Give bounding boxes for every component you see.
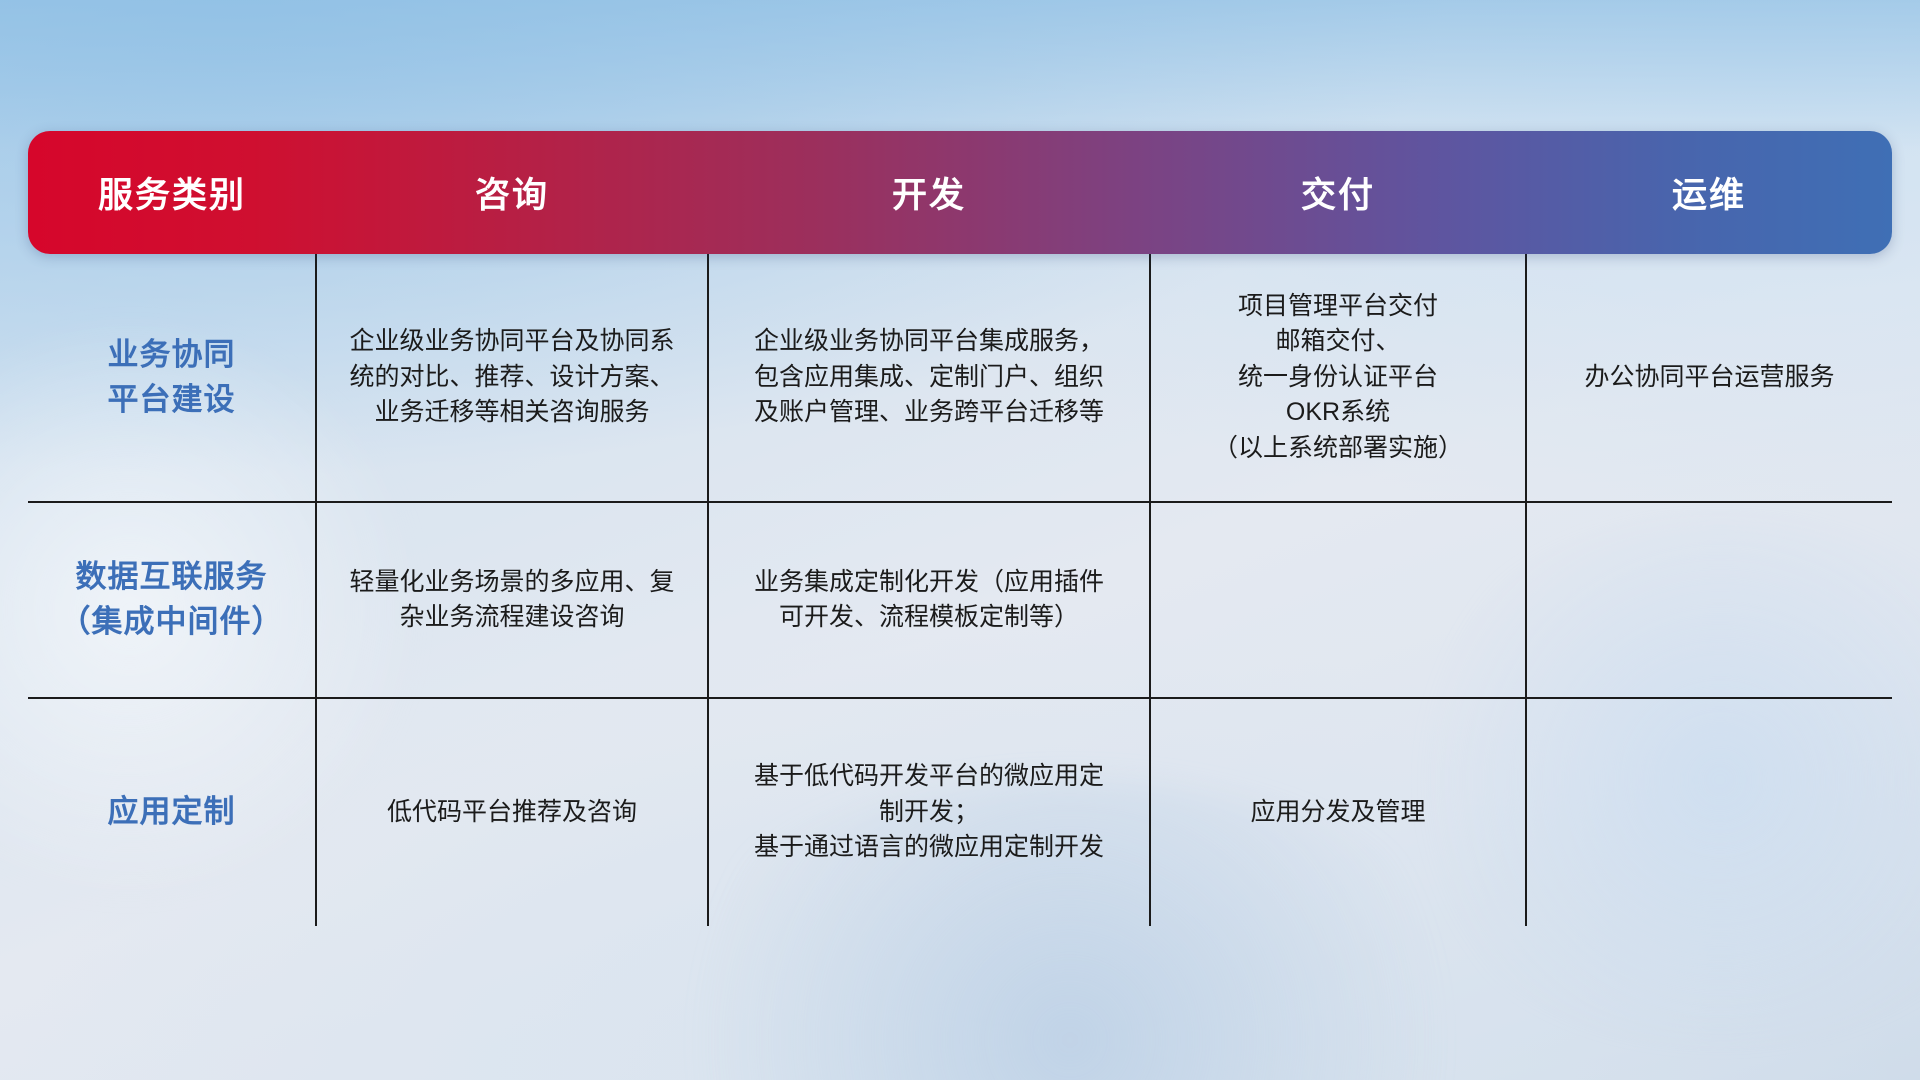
column-header-delivery[interactable]: 交付 (1150, 131, 1526, 254)
table-header: 服务类别 咨询 开发 交付 运维 (28, 131, 1892, 254)
row-label-business-collaboration: 业务协同 平台建设 (28, 254, 316, 502)
table-row: 应用定制 低代码平台推荐及咨询 基于低代码开发平台的微应用定 制开发； 基于通过… (28, 698, 1892, 926)
column-header-consulting[interactable]: 咨询 (316, 131, 708, 254)
background-sheen-top (0, 0, 1920, 150)
table-row: 数据互联服务 （集成中间件） 轻量化业务场景的多应用、复 杂业务流程建设咨询 业… (28, 502, 1892, 698)
cell-development-row3: 基于低代码开发平台的微应用定 制开发； 基于通过语言的微应用定制开发 (708, 698, 1150, 926)
cell-operations-row2 (1526, 502, 1892, 698)
row-label-data-interconnect: 数据互联服务 （集成中间件） (28, 502, 316, 698)
cell-delivery-row3: 应用分发及管理 (1150, 698, 1526, 926)
row-label-app-customization: 应用定制 (28, 698, 316, 926)
column-header-development[interactable]: 开发 (708, 131, 1150, 254)
cell-development-row2: 业务集成定制化开发（应用插件 可开发、流程模板定制等） (708, 502, 1150, 698)
table-row: 业务协同 平台建设 企业级业务协同平台及协同系 统的对比、推荐、设计方案、 业务… (28, 254, 1892, 502)
cell-development-row1: 企业级业务协同平台集成服务， 包含应用集成、定制门户、组织 及账户管理、业务跨平… (708, 254, 1150, 502)
cell-operations-row3 (1526, 698, 1892, 926)
cell-delivery-row1: 项目管理平台交付 邮箱交付、 统一身份认证平台 OKR系统 （以上系统部署实施） (1150, 254, 1526, 502)
table-header-row: 服务类别 咨询 开发 交付 运维 (28, 131, 1892, 254)
cell-consulting-row1: 企业级业务协同平台及协同系 统的对比、推荐、设计方案、 业务迁移等相关咨询服务 (316, 254, 708, 502)
column-header-operations[interactable]: 运维 (1526, 131, 1892, 254)
service-matrix-table: 服务类别 咨询 开发 交付 运维 业务协同 平台建设 企业级业务协同平台及协同系… (28, 131, 1892, 926)
cell-operations-row1: 办公协同平台运营服务 (1526, 254, 1892, 502)
column-header-category[interactable]: 服务类别 (28, 131, 316, 254)
cell-consulting-row2: 轻量化业务场景的多应用、复 杂业务流程建设咨询 (316, 502, 708, 698)
cell-consulting-row3: 低代码平台推荐及咨询 (316, 698, 708, 926)
cell-delivery-row2 (1150, 502, 1526, 698)
table-body: 业务协同 平台建设 企业级业务协同平台及协同系 统的对比、推荐、设计方案、 业务… (28, 254, 1892, 926)
service-matrix-container: 服务类别 咨询 开发 交付 运维 业务协同 平台建设 企业级业务协同平台及协同系… (28, 131, 1892, 926)
